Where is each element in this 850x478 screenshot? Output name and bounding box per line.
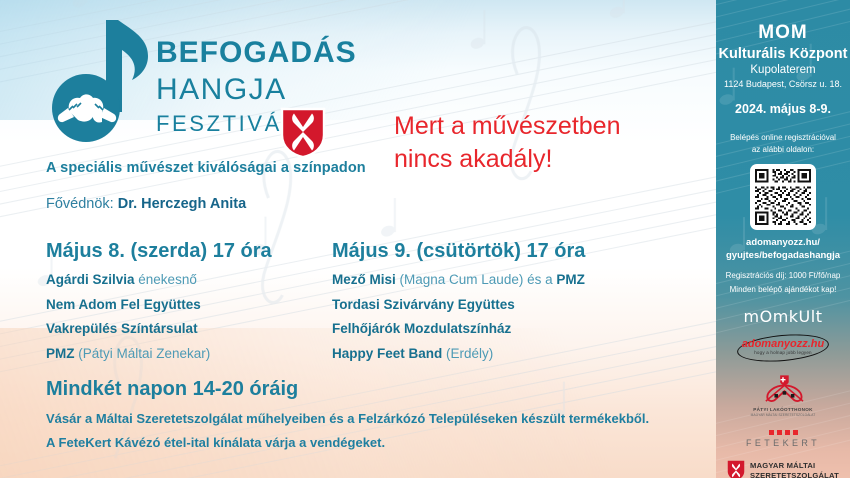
list-item: Nem Adom Fel Együttes [46,297,326,312]
festival-logo: BEFOGADÁS HANGJA FESZTIVÁL [44,16,354,146]
venue-subname: Kulturális Központ [716,46,850,62]
adomanyozz-logo: adomanyozz.hu hogy a holnap jobb legyen [737,335,829,361]
act-note: (Magna Cum Laude) és a [396,272,557,287]
momkult-logo: mOmkUlt [716,307,850,326]
logo-line-3: FESZTIVÁL [156,113,357,135]
market-info-block: Mindkét napon 14-20 óráig Vásár a Máltai… [46,378,696,459]
mmsz-line-2: SZERETETSZOLGÁLAT [750,471,839,478]
act-name: Mező Misi [332,272,396,287]
list-item: Vakrepülés Színtársulat [46,321,326,336]
list-item: Tordasi Szivárvány Együttes [332,297,672,312]
mmsz-shield-icon [727,460,745,478]
music-note-hands-icon [44,16,164,144]
market-line-1: Vásár a Máltai Szeretetszolgálat műhelye… [46,411,696,426]
poster-root: BEFOGADÁS HANGJA FESZTIVÁL A speciális m… [0,0,850,478]
sponsor-logos: mOmkUlt adomanyozz.hu hogy a holnap jobb… [716,307,850,478]
fetekert-logo: FETEKERT [716,430,850,448]
mmsz-line-1: MAGYAR MÁLTAI [750,461,839,470]
registration-url[interactable]: adomanyozz.hu/ gyujtes/befogadashangja [716,237,850,263]
program-day-2: Május 9. (csütörtök) 17 óra Mező Misi (M… [332,240,672,370]
slogan-line-1: Mert a művészetben [394,110,621,143]
venue-room: Kupolaterem [716,64,850,76]
festival-logo-wordmark: BEFOGADÁS HANGJA FESZTIVÁL [156,38,357,135]
festival-subtitle: A speciális művészet kiválóságai a színp… [46,160,366,176]
venue-address: 1124 Budapest, Csörsz u. 18. [716,79,850,89]
fetekert-wordmark: FETEKERT [716,438,850,448]
program-day-1: Május 8. (szerda) 17 óra Agárdi Szilvia … [46,240,326,370]
venue-name: MOM [716,22,850,44]
entry-gift-note: Minden belépő ajándékot kap! [716,285,850,294]
list-item: Felhőjárók Mozdulatszínház [332,321,672,336]
act-note: énekesnő [135,272,197,287]
list-item: PMZ (Pátyi Máltai Zenekar) [46,346,326,361]
adomanyozz-main-text: adomanyozz.hu [737,338,829,350]
event-dates: 2024. május 8-9. [716,102,850,116]
registration-url-line-2: gyujtes/befogadashangja [720,250,846,263]
list-item: Agárdi Szilvia énekesnő [46,272,326,287]
list-item: Mező Misi (Magna Cum Laude) és a PMZ [332,272,672,287]
act-note: (Pátyi Máltai Zenekar) [75,346,211,361]
fetekert-dots-icon [716,430,850,435]
registration-fee: Regisztrációs díj: 1000 Ft/fő/nap [716,271,850,280]
mmsz-wordmark: MAGYAR MÁLTAI SZERETETSZOLGÁLAT [750,461,839,478]
patyi-house-heart-icon [753,372,813,406]
act-name: Nem Adom Fel Együttes [46,297,201,312]
festival-slogan: Mert a művészetben nincs akadály! [394,110,621,175]
market-line-2: A FeteKert Kávézó étel-ital kínálata vár… [46,435,696,450]
logo-line-2: HANGJA [156,75,357,105]
day-1-heading: Május 8. (szerda) 17 óra [46,240,326,263]
reg-info-line-1: Belépés online regisztrációval [724,132,842,144]
act-name: Agárdi Szilvia [46,272,135,287]
act-note: (Erdély) [442,346,493,361]
patron-line: Fővédnök: Dr. Herczegh Anita [46,196,246,212]
mmsz-logo: MAGYAR MÁLTAI SZERETETSZOLGÁLAT [716,460,850,478]
info-sidebar: MOM Kulturális Központ Kupolaterem 1124 … [716,0,850,478]
maltese-cross-shield-icon [280,107,326,159]
slogan-line-2: nincs akadály! [394,143,621,176]
reg-info-line-2: az alábbi oldalon: [724,144,842,156]
act-name-2: PMZ [556,272,585,287]
logo-line-1: BEFOGADÁS [156,38,357,68]
act-name: Tordasi Szivárvány Együttes [332,297,515,312]
registration-url-line-1: adomanyozz.hu/ [720,237,846,250]
list-item: Happy Feet Band (Erdély) [332,346,672,361]
act-name: Felhőjárók Mozdulatszínház [332,321,511,336]
day-2-heading: Május 9. (csütörtök) 17 óra [332,240,672,263]
adomanyozz-tagline: hogy a holnap jobb legyen [737,350,829,355]
sidebar-content: MOM Kulturális Központ Kupolaterem 1124 … [716,0,850,294]
patron-name: Dr. Herczegh Anita [118,196,246,212]
registration-qr-code[interactable] [750,164,816,230]
patyi-sublabel: MAGYAR MÁLTAI SZERETETSZOLGÁLAT [741,413,825,417]
main-panel: BEFOGADÁS HANGJA FESZTIVÁL A speciális m… [0,0,716,478]
act-name: Vakrepülés Színtársulat [46,321,198,336]
patron-label: Fővédnök: [46,196,114,212]
patyi-label: PÁTYI LAKÓOTTHONOK [741,407,825,412]
registration-info: Belépés online regisztrációval az alábbi… [716,132,850,157]
patyi-lakootthonok-logo: PÁTYI LAKÓOTTHONOK MAGYAR MÁLTAI SZERETE… [741,372,825,417]
market-heading: Mindkét napon 14-20 óráig [46,378,696,401]
act-name: Happy Feet Band [332,346,442,361]
act-name: PMZ [46,346,75,361]
